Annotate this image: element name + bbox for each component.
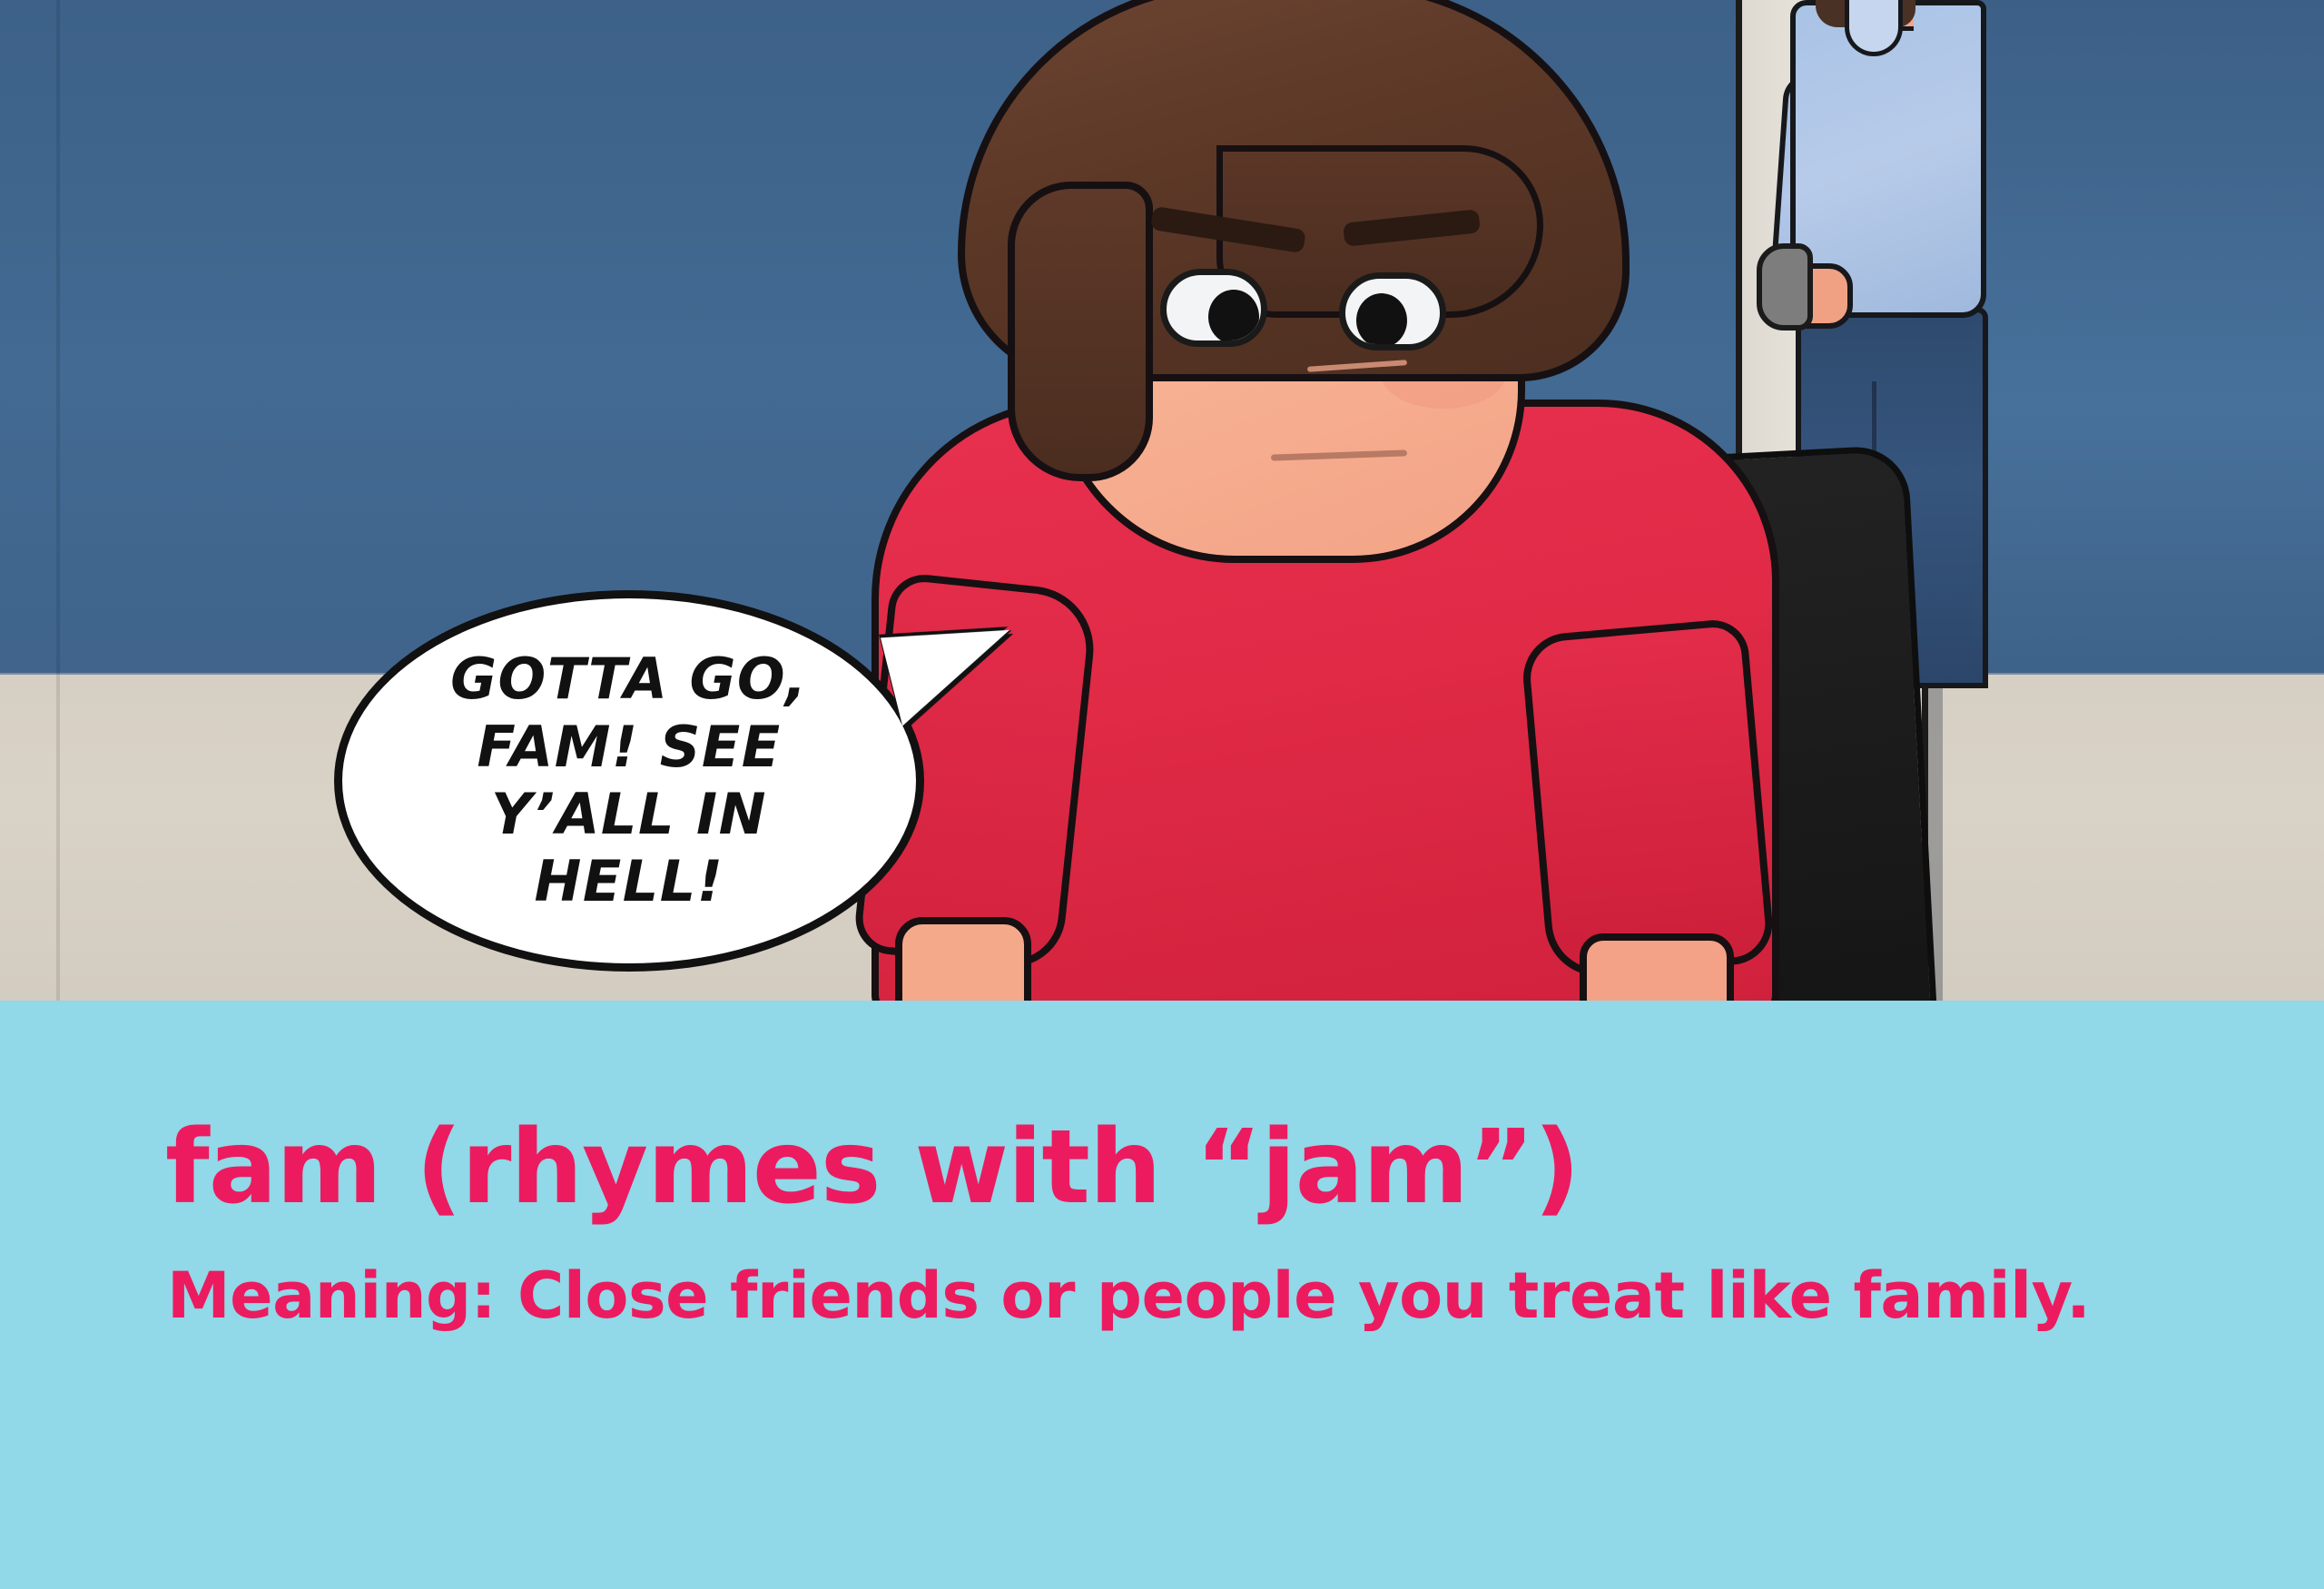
background-person-collar (1845, 0, 1903, 56)
slang-definition-card: GOTTA GO, FAM! SEE Y’ALL IN HELL! fam (r… (0, 0, 2324, 1589)
slang-meaning-text: Meaning: Close friends or people you tre… (167, 1264, 2090, 1327)
slang-term-headline: fam (rhymes with “jam”) (165, 1117, 1580, 1219)
door-handle-icon (1757, 243, 1813, 331)
boy-left-arm (895, 917, 1031, 1001)
boy-eye-left (1160, 269, 1267, 347)
wall-corner-edge (56, 0, 60, 1001)
boy-eye-right (1339, 272, 1446, 350)
pupil (1208, 290, 1259, 344)
speech-bubble: GOTTA GO, FAM! SEE Y’ALL IN HELL! (334, 590, 924, 972)
boy-hair-sideburn (1008, 182, 1153, 481)
boy-right-arm (1580, 933, 1734, 1001)
speech-bubble-text: GOTTA GO, FAM! SEE Y’ALL IN HELL! (423, 646, 835, 916)
boy-right-sleeve (1520, 617, 1776, 981)
definition-banner: fam (rhymes with “jam”) Meaning: Close f… (0, 1001, 2324, 1589)
pupil (1356, 293, 1407, 348)
illustration-panel: GOTTA GO, FAM! SEE Y’ALL IN HELL! (0, 0, 2324, 1001)
